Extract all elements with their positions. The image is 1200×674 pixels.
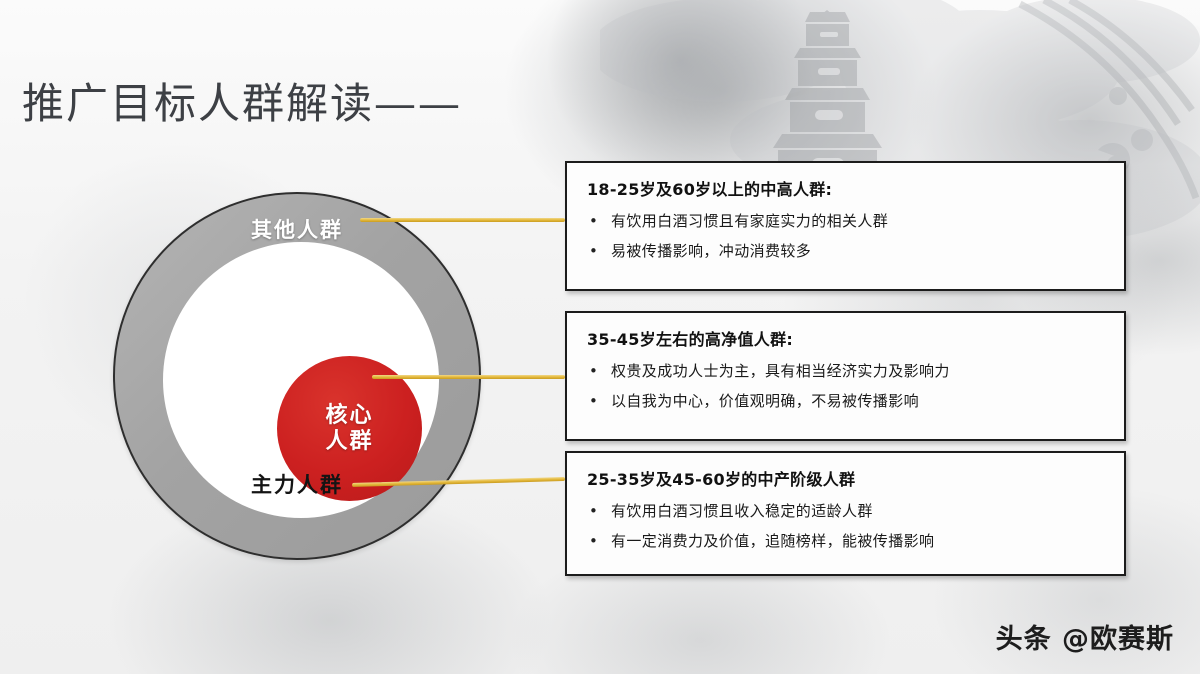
bullet-item: • 以自我为中心，价值观明确，不易被传播影响 [587,391,1104,411]
bullet-item: • 有一定消费力及价值，追随榜样，能被传播影响 [587,531,1104,551]
info-box-title: 18-25岁及60岁以上的中高人群: [587,176,1104,200]
bullet-marker-icon: • [587,391,611,411]
bullet-item: • 有饮用白酒习惯且收入稳定的适龄人群 [587,501,1104,521]
bullet-item: • 有饮用白酒习惯且有家庭实力的相关人群 [587,211,1104,231]
bullet-marker-icon: • [587,501,611,521]
watermark-label: 头条 @欧赛斯 [996,617,1174,656]
bullet-text: 有一定消费力及价值，追随榜样，能被传播影响 [611,531,934,551]
bullet-item: • 易被传播影响，冲动消费较多 [587,241,1104,261]
info-box-title: 35-45岁左右的高净值人群: [587,326,1104,350]
connector-line-top [360,218,565,222]
bullet-text: 权贵及成功人士为主，具有相当经济实力及影响力 [611,361,950,381]
bullet-marker-icon: • [587,531,611,551]
info-box-other-audience[interactable]: 18-25岁及60岁以上的中高人群: • 有饮用白酒习惯且有家庭实力的相关人群 … [565,161,1126,291]
bullet-text: 以自我为中心，价值观明确，不易被传播影响 [611,391,919,411]
slide-canvas: 推广目标人群解读—— 核心 人群 其他人群 主力人群 18-25岁及60岁以上的… [0,0,1200,674]
bullet-marker-icon: • [587,361,611,381]
bullet-item: • 权贵及成功人士为主，具有相当经济实力及影响力 [587,361,1104,381]
bullet-text: 有饮用白酒习惯且有家庭实力的相关人群 [611,211,888,231]
info-box-main-audience[interactable]: 25-35岁及45-60岁的中产阶级人群 • 有饮用白酒习惯且收入稳定的适龄人群… [565,451,1126,576]
bullet-marker-icon: • [587,211,611,231]
connector-line-middle [372,375,565,379]
core-label-line-2: 人群 [325,429,373,455]
info-box-core-audience[interactable]: 35-45岁左右的高净值人群: • 权贵及成功人士为主，具有相当经济实力及影响力… [565,311,1126,441]
bullet-marker-icon: • [587,241,611,261]
info-box-title: 25-35岁及45-60岁的中产阶级人群 [587,466,1104,490]
page-title: 推广目标人群解读—— [22,70,462,131]
core-label-line-1: 核心 [325,403,373,429]
bullet-text: 有饮用白酒习惯且收入稳定的适龄人群 [611,501,873,521]
bullet-text: 易被传播影响，冲动消费较多 [611,241,811,261]
